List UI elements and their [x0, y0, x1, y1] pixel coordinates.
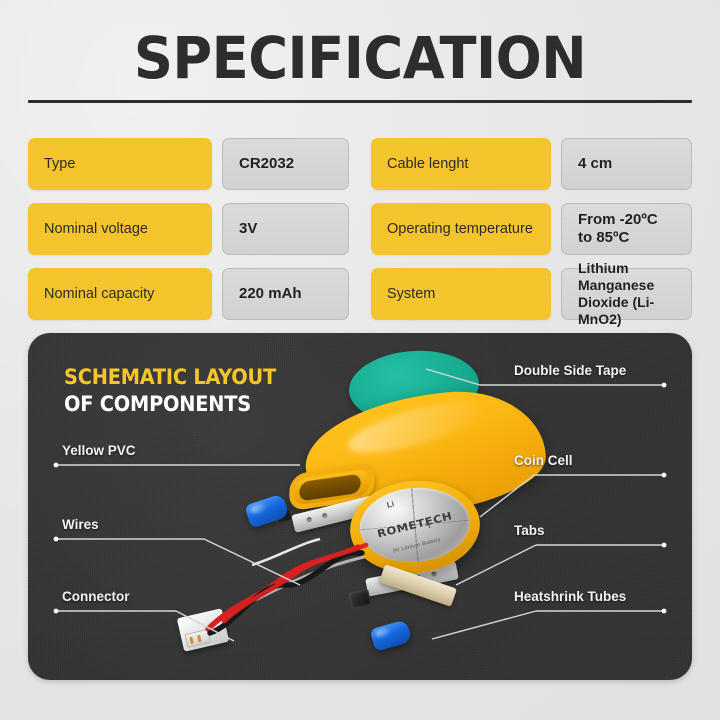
schematic-heading: SCHEMATIC LAYOUT OF COMPONENTS [64, 364, 276, 418]
spec-key-system: System [371, 268, 551, 320]
spec-value-operating-temperature: From -20ºC to 85ºC [561, 203, 692, 255]
schematic-heading-line2: OF COMPONENTS [64, 391, 276, 418]
infographic-page: SPECIFICATION Type CR2032 Nominal voltag… [0, 0, 720, 720]
title-divider [28, 100, 692, 103]
spec-key-cable-length: Cable lenght [371, 138, 551, 190]
spec-row-nominal-voltage: Nominal voltage 3V [28, 203, 349, 255]
spec-row-nominal-capacity: Nominal capacity 220 mAh [28, 268, 349, 320]
spec-row-cable-length: Cable lenght 4 cm [371, 138, 692, 190]
specification-table: Type CR2032 Nominal voltage 3V Nominal c… [28, 138, 692, 320]
label-coin-cell: Coin Cell [514, 453, 573, 469]
label-yellow-pvc: Yellow PVC [62, 443, 136, 459]
label-heatshrink-tubes: Heatshrink Tubes [514, 589, 626, 605]
spec-key-nominal-voltage: Nominal voltage [28, 203, 212, 255]
spec-row-type: Type CR2032 [28, 138, 349, 190]
page-title: SPECIFICATION [0, 26, 720, 90]
spec-value-nominal-voltage: 3V [222, 203, 349, 255]
schematic-panel: SCHEMATIC LAYOUT OF COMPONENTS [28, 333, 692, 680]
schematic-heading-line1: SCHEMATIC LAYOUT [64, 364, 276, 391]
spec-column-right: Cable lenght 4 cm Operating temperature … [371, 138, 692, 320]
spec-value-system: Lithium Manganese Dioxide (Li-MnO2) [561, 268, 692, 320]
spec-column-left: Type CR2032 Nominal voltage 3V Nominal c… [28, 138, 349, 320]
spec-key-nominal-capacity: Nominal capacity [28, 268, 212, 320]
spec-row-system: System Lithium Manganese Dioxide (Li-MnO… [371, 268, 692, 320]
label-tabs: Tabs [514, 523, 545, 539]
label-wires: Wires [62, 517, 99, 533]
spec-key-operating-temperature: Operating temperature [371, 203, 551, 255]
spec-value-type: CR2032 [222, 138, 349, 190]
spec-value-nominal-capacity: 220 mAh [222, 268, 349, 320]
spec-key-type: Type [28, 138, 212, 190]
spec-row-operating-temperature: Operating temperature From -20ºC to 85ºC [371, 203, 692, 255]
label-connector: Connector [62, 589, 130, 605]
spec-value-cable-length: 4 cm [561, 138, 692, 190]
label-double-side-tape: Double Side Tape [514, 363, 626, 379]
